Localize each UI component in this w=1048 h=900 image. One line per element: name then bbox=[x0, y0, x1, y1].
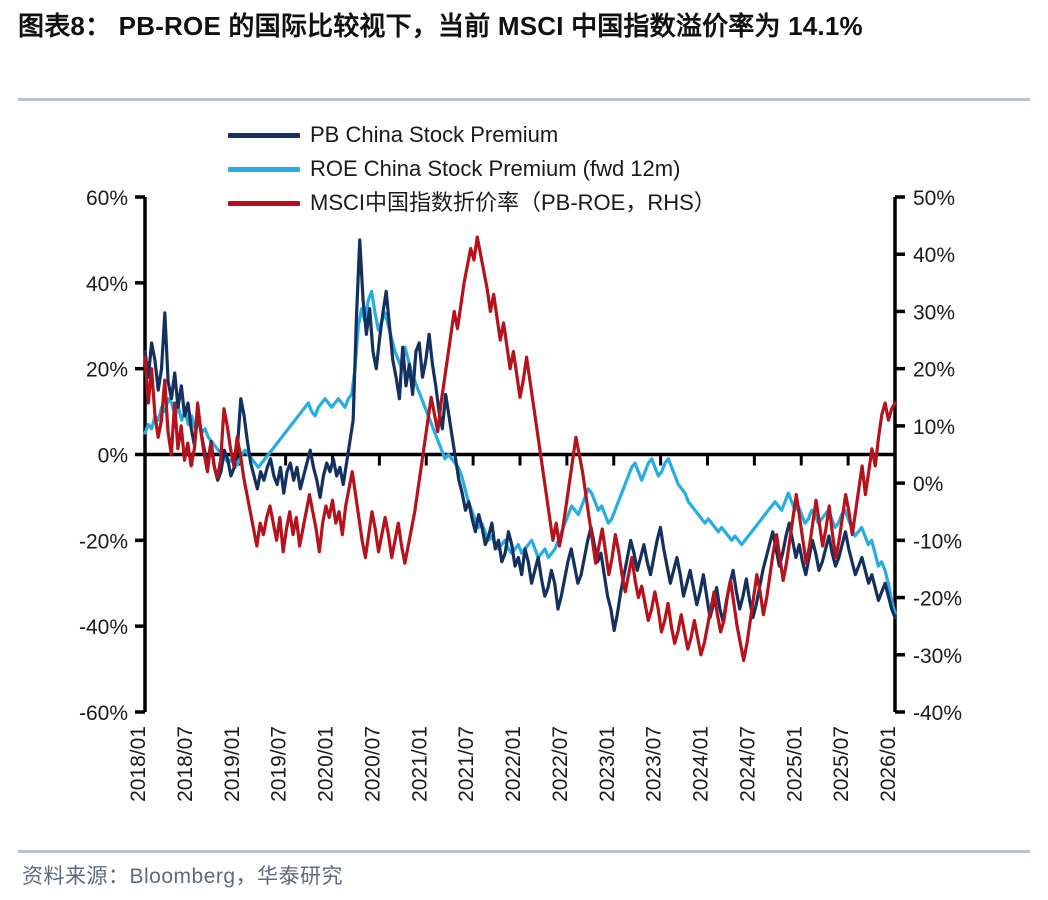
x-axis-tick-label: 2021/01 bbox=[408, 726, 431, 802]
x-axis-tick-label: 2024/07 bbox=[736, 726, 759, 802]
right-axis-tick-label: 40% bbox=[913, 244, 955, 267]
right-axis-tick-label: 50% bbox=[913, 187, 955, 210]
x-axis-tick-label: 2025/07 bbox=[830, 726, 853, 802]
x-axis-tick-label: 2018/07 bbox=[174, 726, 197, 802]
chart-page: 图表8： PB-ROE 的国际比较视下，当前 MSCI 中国指数溢价率为 14.… bbox=[0, 0, 1048, 900]
left-axis: 60%40%20%0%-20%-40%-60% bbox=[79, 187, 145, 725]
left-axis-tick-label: -60% bbox=[79, 702, 128, 725]
series-group bbox=[145, 237, 895, 660]
x-axis-tick-label: 2023/01 bbox=[596, 726, 619, 802]
right-axis-tick-label: -20% bbox=[913, 588, 962, 611]
right-axis-tick-label: 10% bbox=[913, 416, 955, 439]
x-axis-tick-label: 2019/07 bbox=[268, 726, 291, 802]
x-axis-tick-label: 2019/01 bbox=[221, 726, 244, 802]
x-axis-tick-label: 2022/01 bbox=[502, 726, 525, 802]
x-axis-tick-label: 2020/01 bbox=[315, 726, 338, 802]
footer-divider bbox=[18, 850, 1030, 853]
x-axis-tick-label: 2023/07 bbox=[643, 726, 666, 802]
series-line-msci bbox=[145, 237, 895, 660]
right-axis-tick-label: 0% bbox=[913, 473, 943, 496]
right-axis-tick-label: 20% bbox=[913, 359, 955, 382]
right-axis-tick-label: -40% bbox=[913, 702, 962, 725]
left-axis-tick-label: -40% bbox=[79, 616, 128, 639]
x-axis-tick-label: 2024/01 bbox=[690, 726, 713, 802]
x-axis-tick-label: 2020/07 bbox=[361, 726, 384, 802]
x-axis-tick-label: 2025/01 bbox=[783, 726, 806, 802]
line-chart-canvas: 60%40%20%0%-20%-40%-60% 50%40%30%20%10%0… bbox=[0, 0, 1048, 900]
x-axis-tick-label: 2021/07 bbox=[455, 726, 478, 802]
right-axis-tick-label: -30% bbox=[913, 645, 962, 668]
right-axis-tick-label: 30% bbox=[913, 301, 955, 324]
right-axis-tick-label: -10% bbox=[913, 530, 962, 553]
x-axis-tick-label: 2026/01 bbox=[877, 726, 900, 802]
x-axis-tick-label: 2018/01 bbox=[127, 726, 150, 802]
left-axis-tick-label: 0% bbox=[98, 445, 128, 468]
source-note: 资料来源：Bloomberg，华泰研究 bbox=[22, 860, 343, 890]
x-axis-tick-label: 2022/07 bbox=[549, 726, 572, 802]
left-axis-tick-label: -20% bbox=[79, 530, 128, 553]
left-axis-tick-label: 60% bbox=[86, 187, 128, 210]
right-axis: 50%40%30%20%10%0%-10%-20%-30%-40% bbox=[895, 187, 962, 725]
left-axis-tick-label: 40% bbox=[86, 273, 128, 296]
left-axis-tick-label: 20% bbox=[86, 359, 128, 382]
